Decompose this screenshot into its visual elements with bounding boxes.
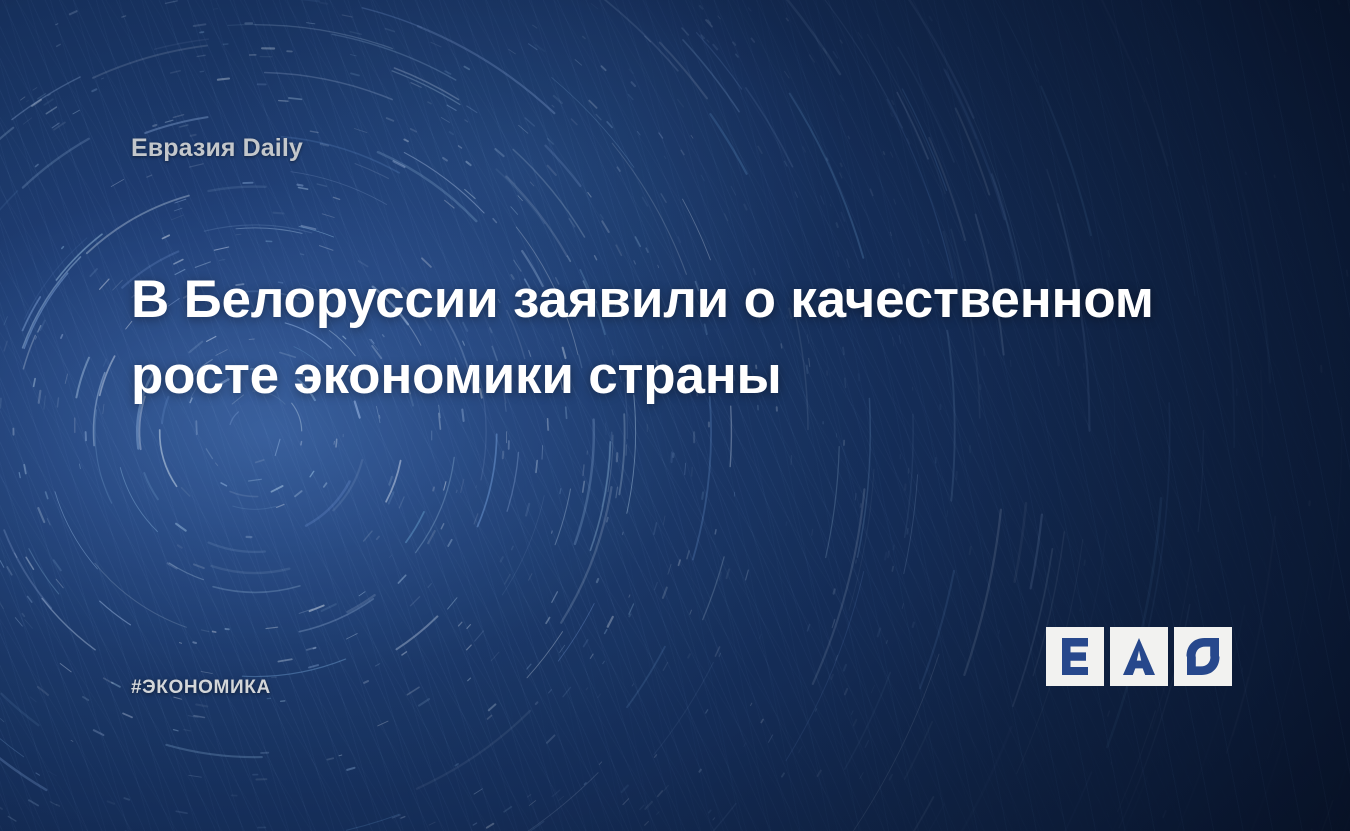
logo-tile-e xyxy=(1046,627,1104,686)
ead-logo[interactable] xyxy=(1046,627,1232,686)
logo-letter-d-split-icon xyxy=(1174,627,1232,686)
news-share-card: Евразия Daily В Белоруссии заявили о кач… xyxy=(0,0,1350,831)
logo-letter-e-icon xyxy=(1046,627,1104,686)
card-content: Евразия Daily В Белоруссии заявили о кач… xyxy=(0,0,1350,831)
headline: В Белоруссии заявили о качественном рост… xyxy=(131,262,1191,414)
brand-name: Евразия Daily xyxy=(131,136,303,161)
logo-tile-d xyxy=(1174,627,1232,686)
category-tag: #ЭКОНОМИКА xyxy=(131,678,271,697)
logo-tile-a xyxy=(1110,627,1168,686)
logo-letter-a-icon xyxy=(1110,627,1168,686)
